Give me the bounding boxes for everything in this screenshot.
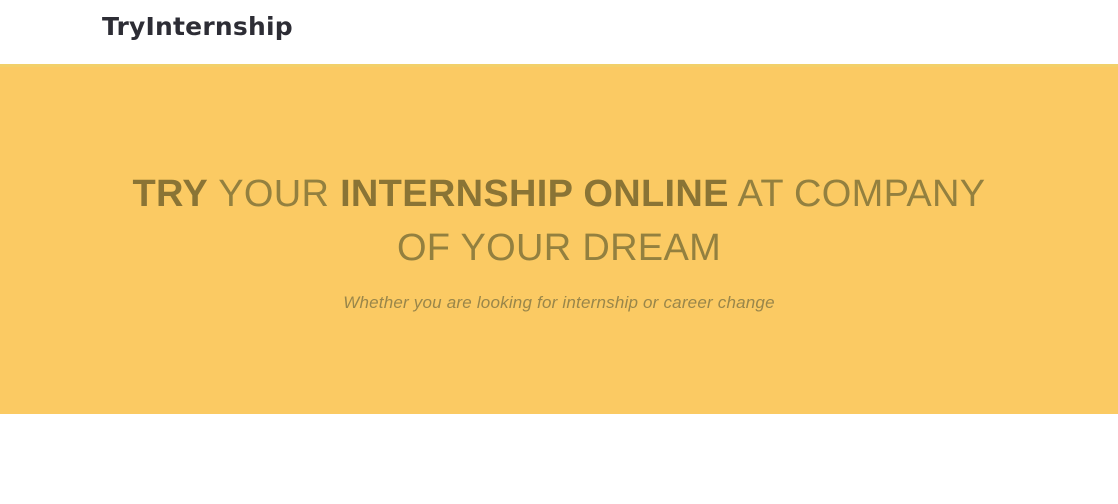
hero-subtitle: Whether you are looking for internship o… xyxy=(0,291,1118,315)
hero-banner: TRY YOUR INTERNSHIP ONLINE AT COMPANY OF… xyxy=(0,64,1118,414)
hero-headline-word-at-company: AT COMPANY xyxy=(729,173,986,215)
hero-headline-word-try: TRY xyxy=(133,173,209,215)
hero-headline-word-your: YOUR xyxy=(208,173,340,215)
site-header: TryInternship xyxy=(0,0,1118,64)
hero-headline: TRY YOUR INTERNSHIP ONLINE AT COMPANY OF… xyxy=(0,167,1118,275)
page-root: TryInternship TRY YOUR INTERNSHIP ONLINE… xyxy=(0,0,1118,504)
content-area xyxy=(0,414,1118,504)
hero-headline-word-internship-online: INTERNSHIP ONLINE xyxy=(340,173,729,215)
hero-headline-line-2: OF YOUR DREAM xyxy=(0,221,1118,275)
brand-logo[interactable]: TryInternship xyxy=(102,11,293,43)
